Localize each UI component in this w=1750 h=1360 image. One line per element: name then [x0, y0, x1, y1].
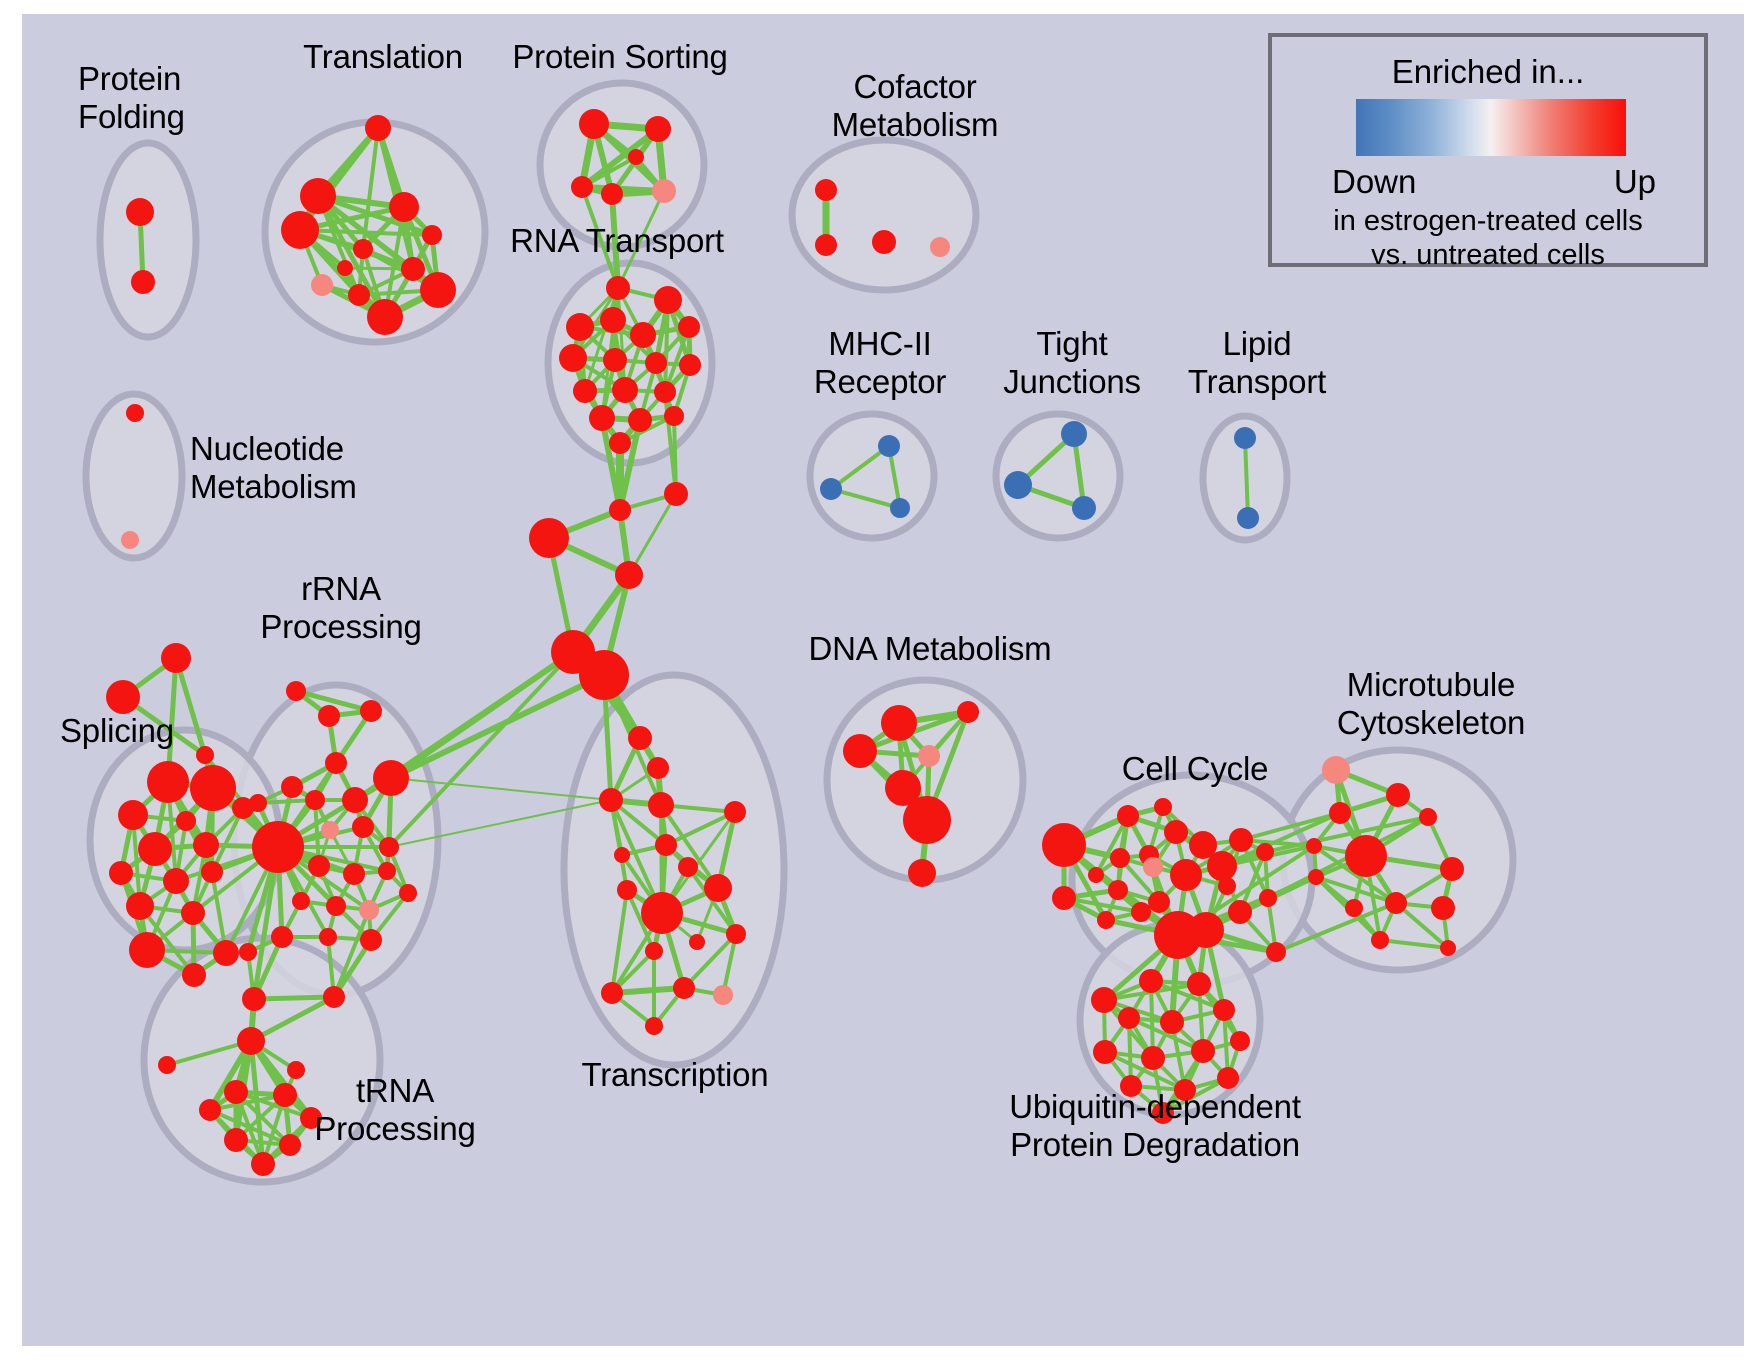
network-node[interactable] — [1097, 911, 1115, 929]
edge — [391, 675, 604, 778]
network-node[interactable] — [820, 478, 842, 500]
network-node[interactable] — [176, 811, 196, 831]
network-node[interactable] — [1131, 902, 1151, 922]
cluster-label-mhc-ii-receptor: MHC-IIReceptor — [790, 325, 970, 401]
network-node[interactable] — [213, 940, 239, 966]
legend-subtitle-line2: vs. untreated cells — [1272, 239, 1704, 272]
network-node[interactable] — [566, 313, 594, 341]
network-node[interactable] — [647, 757, 669, 779]
network-node[interactable] — [273, 1083, 297, 1107]
network-node[interactable] — [648, 792, 674, 818]
cluster-label-dna-metabolism: DNA Metabolism — [800, 630, 1060, 668]
network-node[interactable] — [1042, 823, 1086, 867]
cluster-label-line: Junctions — [982, 363, 1162, 401]
network-node[interactable] — [373, 760, 409, 796]
network-node[interactable] — [645, 1017, 663, 1035]
network-node[interactable] — [281, 211, 319, 249]
network-node[interactable] — [182, 963, 206, 987]
cluster-label-line: Splicing — [60, 712, 230, 750]
network-node[interactable] — [401, 257, 425, 281]
network-node[interactable] — [193, 832, 219, 858]
network-node[interactable] — [1207, 851, 1237, 881]
network-figure: ProteinFoldingTranslationProtein Sorting… — [0, 0, 1750, 1360]
cluster-label-line: Translation — [258, 38, 508, 76]
network-node[interactable] — [252, 821, 304, 873]
network-node[interactable] — [878, 435, 900, 457]
network-node[interactable] — [106, 680, 140, 714]
network-node[interactable] — [1308, 869, 1324, 885]
network-node[interactable] — [249, 794, 267, 812]
network-node[interactable] — [237, 1027, 265, 1055]
network-node[interactable] — [158, 1056, 176, 1074]
network-node[interactable] — [903, 796, 951, 844]
network-node[interactable] — [678, 316, 700, 338]
cluster-label-line: Metabolism — [190, 468, 440, 506]
edge — [254, 997, 334, 999]
network-node[interactable] — [628, 149, 644, 165]
network-node[interactable] — [348, 284, 370, 306]
network-node[interactable] — [579, 109, 609, 139]
network-node[interactable] — [1093, 1040, 1117, 1064]
network-node[interactable] — [199, 1099, 221, 1121]
network-node[interactable] — [1004, 471, 1032, 499]
network-node[interactable] — [1440, 940, 1456, 956]
network-node[interactable] — [612, 377, 638, 403]
cluster-label-line: Processing — [246, 608, 436, 646]
network-node[interactable] — [242, 987, 266, 1011]
network-node[interactable] — [126, 404, 144, 422]
network-node[interactable] — [138, 832, 172, 866]
network-node[interactable] — [603, 348, 627, 372]
network-node[interactable] — [323, 986, 345, 1008]
network-node[interactable] — [579, 650, 629, 700]
network-node[interactable] — [1228, 900, 1252, 924]
network-node[interactable] — [1118, 1007, 1140, 1029]
cluster-label-protein-sorting: Protein Sorting — [490, 38, 750, 76]
cluster-ellipse-mhc-ii-receptor — [810, 414, 934, 538]
network-node[interactable] — [1091, 987, 1117, 1013]
network-node[interactable] — [1141, 1046, 1165, 1070]
network-node[interactable] — [1386, 783, 1410, 807]
network-node[interactable] — [652, 179, 676, 203]
network-node[interactable] — [109, 861, 133, 885]
network-node[interactable] — [918, 745, 940, 767]
legend-down-label: Down — [1332, 163, 1416, 201]
cluster-label-tight-junctions: TightJunctions — [982, 325, 1162, 401]
network-node[interactable] — [609, 432, 631, 454]
network-node[interactable] — [679, 354, 701, 376]
network-node[interactable] — [1072, 496, 1096, 520]
network-node[interactable] — [318, 705, 340, 727]
legend-up-label: Up — [1614, 163, 1656, 201]
network-node[interactable] — [654, 381, 676, 403]
network-node[interactable] — [1234, 427, 1256, 449]
cluster-label-line: DNA Metabolism — [800, 630, 1060, 668]
network-node[interactable] — [589, 405, 615, 431]
network-node[interactable] — [319, 928, 337, 946]
network-node[interactable] — [645, 942, 663, 960]
network-node[interactable] — [641, 892, 683, 934]
network-node[interactable] — [628, 726, 652, 750]
network-node[interactable] — [1148, 891, 1170, 913]
network-node[interactable] — [630, 322, 656, 348]
network-node[interactable] — [147, 761, 189, 803]
network-node[interactable] — [251, 1152, 275, 1176]
network-node[interactable] — [1371, 931, 1389, 949]
network-node[interactable] — [872, 230, 896, 254]
network-node[interactable] — [308, 855, 330, 877]
network-node[interactable] — [281, 776, 303, 798]
network-node[interactable] — [815, 234, 837, 256]
network-node[interactable] — [645, 352, 667, 374]
cluster-label-line: Receptor — [790, 363, 970, 401]
cluster-label-line: Protein Degradation — [985, 1126, 1325, 1164]
network-node[interactable] — [615, 561, 643, 589]
network-node[interactable] — [1322, 756, 1350, 784]
network-node[interactable] — [908, 859, 936, 887]
network-node[interactable] — [1061, 421, 1087, 447]
network-node[interactable] — [1188, 912, 1224, 948]
network-node[interactable] — [890, 498, 910, 518]
network-node[interactable] — [353, 239, 373, 259]
network-node[interactable] — [337, 260, 353, 276]
network-node[interactable] — [1164, 820, 1188, 844]
network-node[interactable] — [279, 1134, 301, 1156]
cluster-label-trna-processing: tRNAProcessing — [300, 1072, 490, 1148]
cluster-label-line: Protein — [78, 60, 288, 98]
network-node[interactable] — [617, 880, 637, 900]
network-node[interactable] — [1345, 835, 1387, 877]
network-node[interactable] — [129, 932, 165, 968]
network-node[interactable] — [118, 800, 148, 830]
network-node[interactable] — [1154, 798, 1172, 816]
network-node[interactable] — [1143, 857, 1163, 877]
network-node[interactable] — [1259, 889, 1277, 907]
network-node[interactable] — [1431, 896, 1455, 920]
network-node[interactable] — [1108, 880, 1128, 900]
network-node[interactable] — [181, 901, 205, 925]
network-node[interactable] — [689, 934, 705, 950]
network-node[interactable] — [292, 892, 310, 910]
network-node[interactable] — [628, 408, 652, 432]
cluster-label-line: Cell Cycle — [1100, 750, 1290, 788]
cluster-label-line: Cofactor — [790, 68, 1040, 106]
network-node[interactable] — [601, 183, 623, 205]
network-node[interactable] — [1110, 848, 1130, 868]
network-node[interactable] — [201, 861, 223, 883]
network-node[interactable] — [678, 857, 698, 877]
network-node[interactable] — [713, 985, 733, 1005]
legend-color-gradient-bar — [1356, 99, 1626, 156]
cluster-label-line: Processing — [300, 1110, 490, 1148]
network-node[interactable] — [422, 225, 442, 245]
cluster-label-line: tRNA — [300, 1072, 490, 1110]
cluster-label-rrna-processing: rRNAProcessing — [246, 570, 436, 646]
network-node[interactable] — [957, 701, 979, 723]
network-node[interactable] — [673, 977, 695, 999]
network-node[interactable] — [343, 863, 365, 885]
network-node[interactable] — [399, 884, 417, 902]
network-node[interactable] — [321, 821, 339, 839]
network-node[interactable] — [311, 274, 333, 296]
network-node[interactable] — [881, 705, 917, 741]
network-node[interactable] — [378, 862, 396, 880]
network-node[interactable] — [599, 788, 623, 812]
cluster-label-rna-transport: RNA Transport — [492, 222, 742, 260]
network-node[interactable] — [1213, 999, 1235, 1021]
cluster-ellipse-cofactor-metab — [792, 140, 976, 290]
cluster-label-transcription: Transcription — [560, 1056, 790, 1094]
network-node[interactable] — [614, 847, 630, 863]
network-node[interactable] — [1139, 969, 1163, 993]
network-node[interactable] — [704, 874, 732, 902]
cluster-ellipse-protein-folding — [100, 143, 196, 337]
network-node[interactable] — [131, 270, 155, 294]
network-node[interactable] — [1237, 507, 1259, 529]
network-node[interactable] — [365, 115, 391, 141]
network-node[interactable] — [815, 179, 837, 201]
network-node[interactable] — [1329, 802, 1351, 824]
network-node[interactable] — [1088, 867, 1104, 883]
cluster-label-cofactor-metab: CofactorMetabolism — [790, 68, 1040, 144]
network-node[interactable] — [655, 834, 677, 856]
network-node[interactable] — [326, 896, 346, 916]
network-node[interactable] — [389, 192, 419, 222]
legend: Enriched in... Down Up in estrogen-treat… — [1268, 33, 1708, 267]
cluster-label-line: Nucleotide — [190, 430, 440, 468]
network-node[interactable] — [1256, 843, 1274, 861]
cluster-label-line: MHC-II — [790, 325, 970, 363]
network-node[interactable] — [1217, 1067, 1239, 1089]
network-node[interactable] — [367, 299, 403, 335]
cluster-label-line: Transcription — [560, 1056, 790, 1094]
cluster-label-line: Folding — [78, 98, 288, 136]
network-node[interactable] — [360, 700, 382, 722]
network-node[interactable] — [300, 178, 336, 214]
network-node[interactable] — [664, 406, 684, 426]
network-node[interactable] — [1170, 859, 1202, 891]
legend-subtitle-line1: in estrogen-treated cells — [1272, 205, 1704, 238]
cluster-label-line: rRNA — [246, 570, 436, 608]
cluster-label-splicing: Splicing — [60, 712, 230, 750]
network-node[interactable] — [1160, 1010, 1184, 1034]
network-node[interactable] — [1440, 857, 1464, 881]
network-node[interactable] — [325, 752, 347, 774]
network-node[interactable] — [224, 1128, 248, 1152]
network-node[interactable] — [359, 900, 379, 920]
network-node[interactable] — [271, 926, 293, 948]
network-node[interactable] — [645, 116, 671, 142]
cluster-label-line: Tight — [982, 325, 1162, 363]
cluster-label-line: Cytoskeleton — [1306, 704, 1556, 742]
cluster-label-line: Lipid — [1162, 325, 1352, 363]
network-node[interactable] — [573, 379, 597, 403]
network-node[interactable] — [609, 499, 631, 521]
legend-title: Enriched in... — [1272, 53, 1704, 91]
cluster-label-protein-folding: ProteinFolding — [78, 60, 288, 136]
network-node[interactable] — [600, 307, 626, 333]
cluster-label-lipid-transport: LipidTransport — [1162, 325, 1352, 401]
network-node[interactable] — [420, 272, 456, 308]
network-node[interactable] — [571, 176, 593, 198]
network-node[interactable] — [305, 790, 325, 810]
cluster-label-translation: Translation — [258, 38, 508, 76]
network-node[interactable] — [163, 868, 189, 894]
network-node[interactable] — [601, 982, 623, 1004]
network-node[interactable] — [1218, 877, 1236, 895]
network-node[interactable] — [126, 198, 154, 226]
network-node[interactable] — [360, 929, 382, 951]
network-node[interactable] — [352, 816, 374, 838]
network-node[interactable] — [724, 801, 746, 823]
network-node[interactable] — [654, 286, 682, 314]
network-node[interactable] — [190, 765, 236, 811]
network-node[interactable] — [1345, 899, 1363, 917]
cluster-label-line: Microtubule — [1306, 666, 1556, 704]
network-node[interactable] — [1229, 828, 1253, 852]
network-node[interactable] — [1230, 1031, 1250, 1051]
network-node[interactable] — [559, 344, 587, 372]
network-node[interactable] — [843, 734, 877, 768]
cluster-label-nucleotide-metab: NucleotideMetabolism — [190, 430, 440, 506]
cluster-ellipse-transcription — [564, 675, 784, 1065]
network-node[interactable] — [1187, 972, 1211, 996]
network-node[interactable] — [121, 531, 139, 549]
network-node[interactable] — [1419, 808, 1437, 826]
network-node[interactable] — [1385, 892, 1407, 914]
cluster-label-ubiquitin: Ubiquitin-dependentProtein Degradation — [985, 1088, 1325, 1164]
network-node[interactable] — [1191, 1039, 1215, 1063]
network-node[interactable] — [1306, 838, 1322, 854]
cluster-label-line: Ubiquitin-dependent — [985, 1088, 1325, 1126]
cluster-label-line: Metabolism — [790, 106, 1040, 144]
network-node[interactable] — [664, 482, 688, 506]
network-node[interactable] — [379, 837, 399, 857]
network-node[interactable] — [126, 892, 154, 920]
network-node[interactable] — [930, 237, 950, 257]
cluster-label-microtubule: MicrotubuleCytoskeleton — [1306, 666, 1556, 742]
network-node[interactable] — [342, 787, 368, 813]
network-node[interactable] — [529, 518, 569, 558]
cluster-label-line: RNA Transport — [492, 222, 742, 260]
cluster-label-cell-cycle: Cell Cycle — [1100, 750, 1290, 788]
network-node[interactable] — [161, 643, 191, 673]
network-node[interactable] — [1052, 886, 1076, 910]
network-node[interactable] — [1266, 942, 1286, 962]
network-node[interactable] — [224, 1080, 248, 1104]
cluster-label-line: Transport — [1162, 363, 1352, 401]
cluster-label-line: Protein Sorting — [490, 38, 750, 76]
network-node[interactable] — [239, 943, 257, 961]
network-node[interactable] — [606, 276, 630, 300]
network-node[interactable] — [1117, 805, 1139, 827]
network-node[interactable] — [726, 924, 746, 944]
network-node[interactable] — [286, 681, 306, 701]
